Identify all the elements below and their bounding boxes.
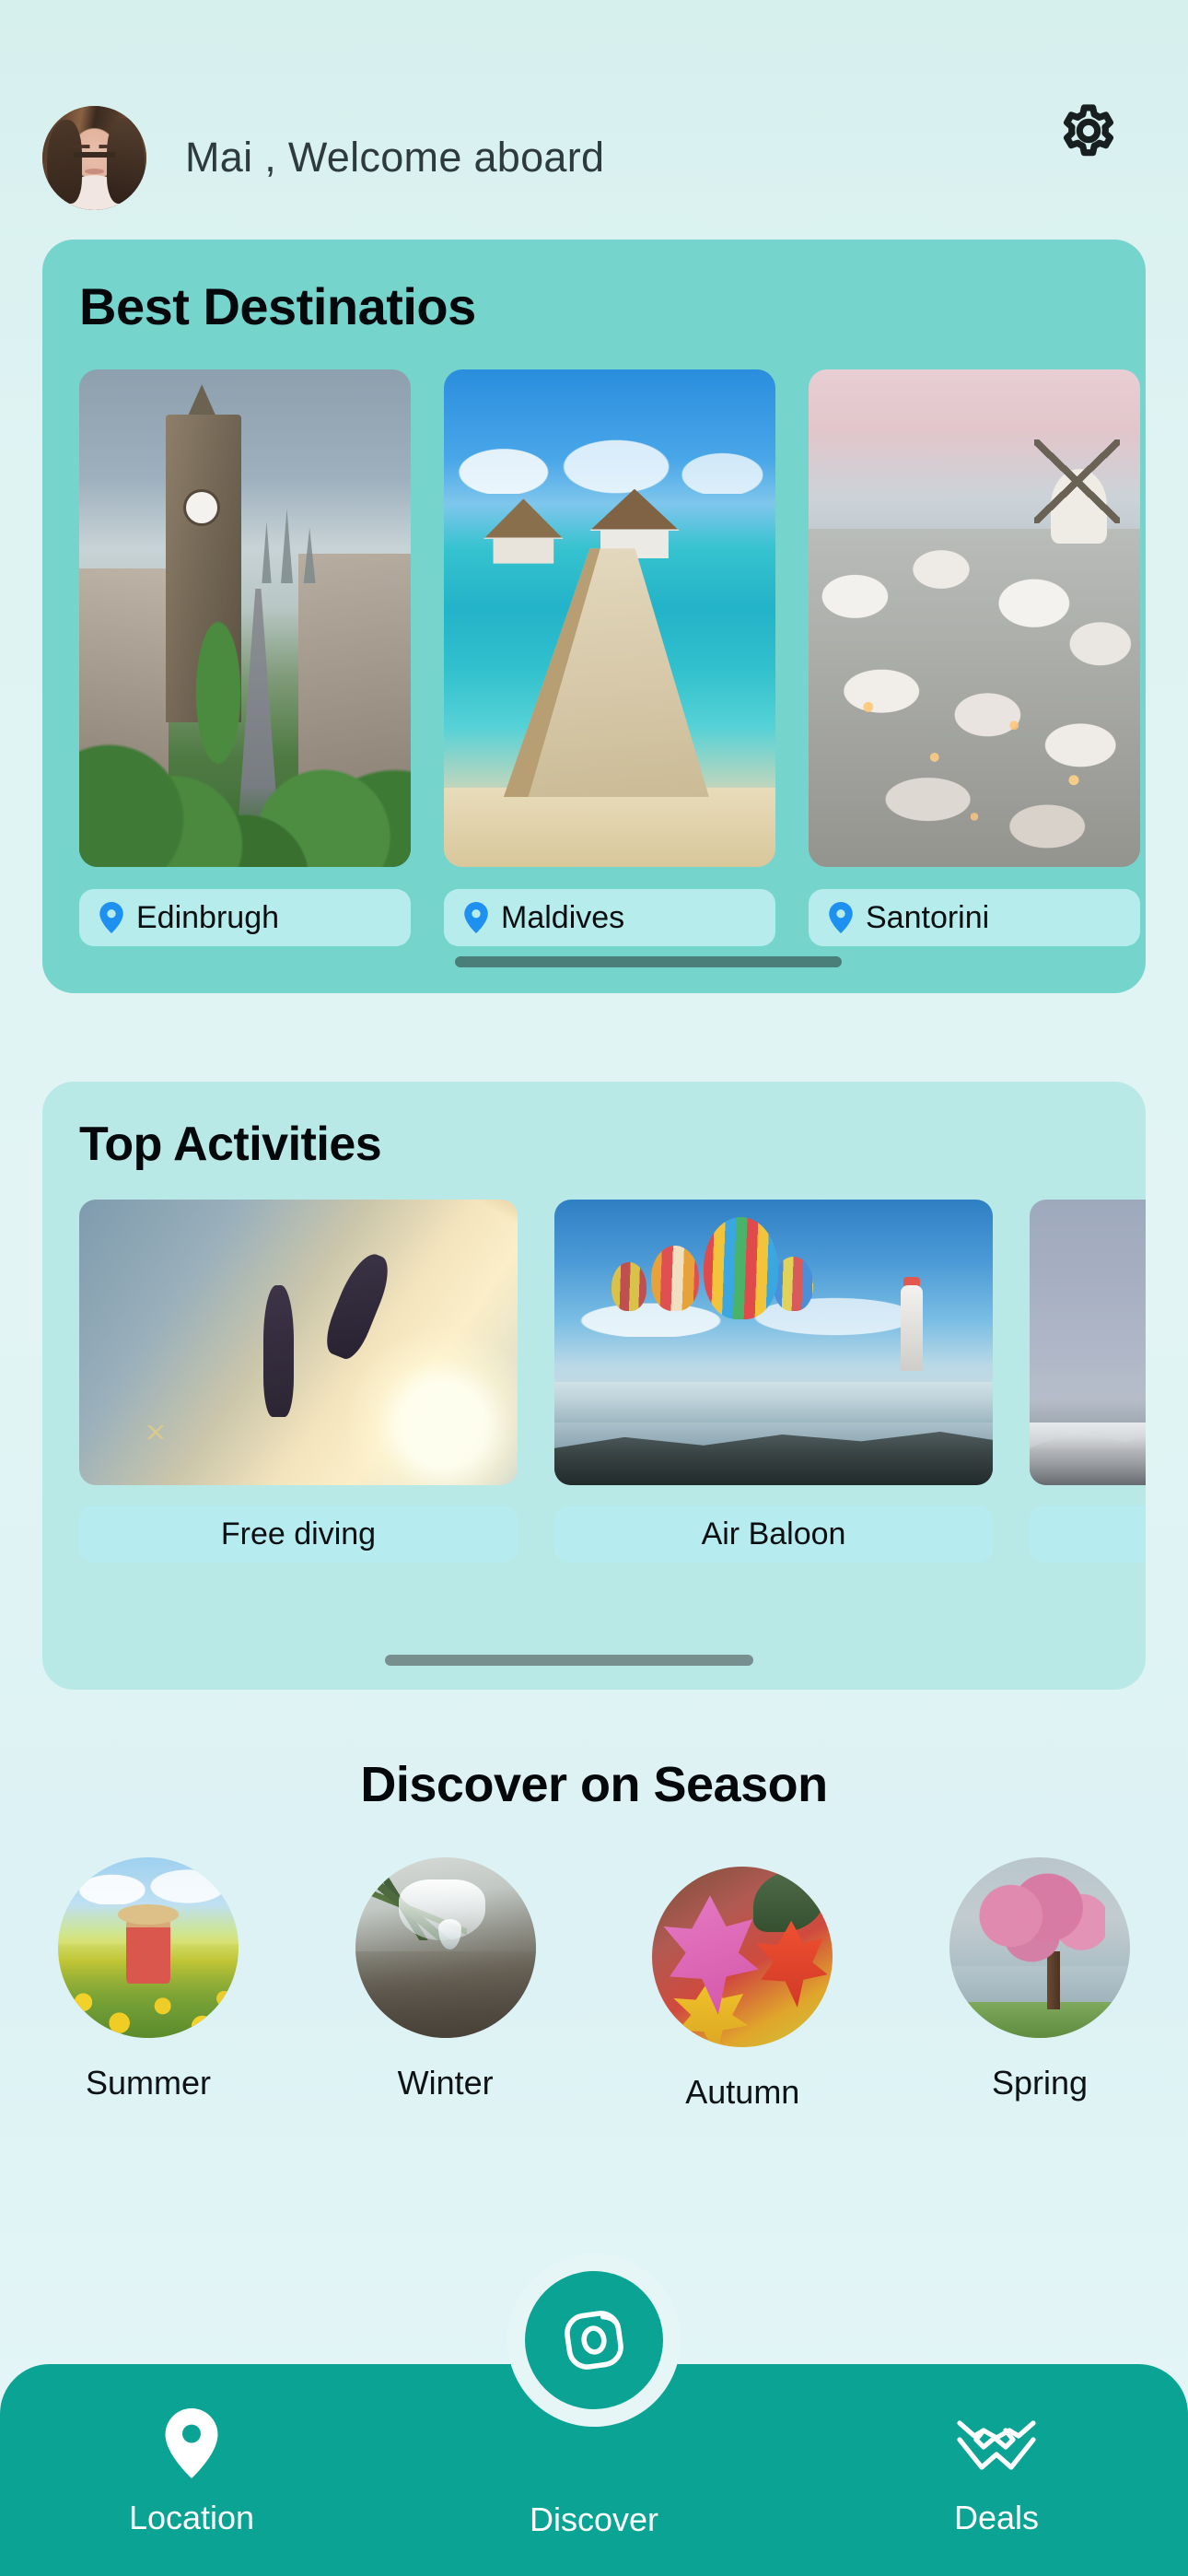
- nav-label-location: Location: [129, 2499, 254, 2537]
- season-image-autumn: [652, 1867, 833, 2047]
- activity-label-chip[interactable]: Free diving: [79, 1505, 518, 1563]
- camera-compass-icon: [554, 2301, 634, 2380]
- nav-label-deals: Deals: [954, 2499, 1039, 2537]
- destination-image-maldives: [444, 369, 775, 867]
- season-item-autumn[interactable]: Autumn: [627, 1867, 857, 2112]
- season-item-summer[interactable]: Summer: [33, 1857, 263, 2112]
- activity-card[interactable]: Air Baloon: [554, 1200, 993, 1563]
- season-image-winter: [355, 1857, 536, 2038]
- nav-label-discover: Discover: [530, 2500, 658, 2539]
- destination-label-text: Maldives: [501, 900, 624, 936]
- destination-label-text: Santorini: [866, 900, 989, 936]
- location-pin-icon: [99, 902, 123, 933]
- season-label-text: Winter: [331, 2064, 561, 2102]
- destination-label-chip[interactable]: Maldives: [444, 889, 775, 946]
- activity-card[interactable]: Free diving: [79, 1200, 518, 1563]
- destinations-scrollbar[interactable]: [455, 956, 842, 967]
- activity-image-free-diving: [79, 1200, 518, 1485]
- destinations-carousel[interactable]: Edinbrugh Maldives: [42, 336, 1146, 946]
- location-pin-icon: [829, 902, 853, 933]
- activity-image-air-balloon: [554, 1200, 993, 1485]
- destination-image-edinburgh: [79, 369, 411, 867]
- best-destinations-title: Best Destinatios: [42, 240, 1146, 336]
- avatar-hair-right: [107, 118, 145, 204]
- destination-card[interactable]: Santorini: [809, 369, 1140, 946]
- discover-on-season-title: Discover on Season: [0, 1756, 1188, 1813]
- avatar-hair-left: [47, 120, 82, 203]
- activity-label-chip[interactable]: Air Baloon: [554, 1505, 993, 1563]
- avatar-eyes: [74, 152, 115, 158]
- activities-scrollbar[interactable]: [385, 1655, 753, 1666]
- handshake-icon: [956, 2408, 1037, 2478]
- nav-item-deals[interactable]: Deals: [840, 2408, 1153, 2537]
- discover-fab-notch: [507, 2254, 681, 2427]
- avatar[interactable]: [42, 106, 146, 210]
- destination-card[interactable]: Maldives: [444, 369, 775, 946]
- settings-button[interactable]: [1046, 88, 1131, 173]
- discover-on-season-section: Discover on Season Summer Winter Autumn …: [0, 1756, 1188, 2112]
- destination-label-chip[interactable]: Edinbrugh: [79, 889, 411, 946]
- season-label-text: Autumn: [627, 2073, 857, 2112]
- season-label-text: Summer: [33, 2064, 263, 2102]
- discover-fab-button[interactable]: [525, 2271, 663, 2409]
- destination-label-chip[interactable]: Santorini: [809, 889, 1140, 946]
- avatar-lips: [85, 169, 103, 174]
- location-pin-icon: [165, 2408, 218, 2478]
- activity-label-chip[interactable]: clim: [1030, 1505, 1146, 1563]
- best-destinations-section: Best Destinatios Edinbrugh: [42, 240, 1146, 993]
- season-label-text: Spring: [925, 2064, 1155, 2102]
- destination-image-santorini: [809, 369, 1140, 867]
- app-header: Mai , Welcome aboard: [0, 0, 1188, 240]
- destination-card[interactable]: Edinbrugh: [79, 369, 411, 946]
- activity-label-text: Free diving: [221, 1516, 376, 1552]
- activity-card[interactable]: clim: [1030, 1200, 1146, 1563]
- nav-item-location[interactable]: Location: [35, 2408, 348, 2537]
- activity-label-text: Air Baloon: [702, 1516, 846, 1552]
- destination-label-text: Edinbrugh: [136, 900, 279, 936]
- location-pin-icon: [464, 902, 488, 933]
- top-activities-section: Top Activities Free diving Air Baloon: [42, 1082, 1146, 1690]
- welcome-greeting: Mai , Welcome aboard: [185, 134, 604, 181]
- season-image-spring: [949, 1857, 1130, 2038]
- activity-image-climbing: [1030, 1200, 1146, 1485]
- season-image-summer: [58, 1857, 239, 2038]
- season-list: Summer Winter Autumn Spring: [0, 1813, 1188, 2112]
- activities-carousel[interactable]: Free diving Air Baloon clim: [42, 1172, 1146, 1563]
- top-activities-title: Top Activities: [42, 1082, 1146, 1172]
- nav-item-discover[interactable]: Discover: [437, 2408, 751, 2539]
- season-item-winter[interactable]: Winter: [331, 1857, 561, 2112]
- season-item-spring[interactable]: Spring: [925, 1857, 1155, 2112]
- gear-icon: [1049, 91, 1128, 170]
